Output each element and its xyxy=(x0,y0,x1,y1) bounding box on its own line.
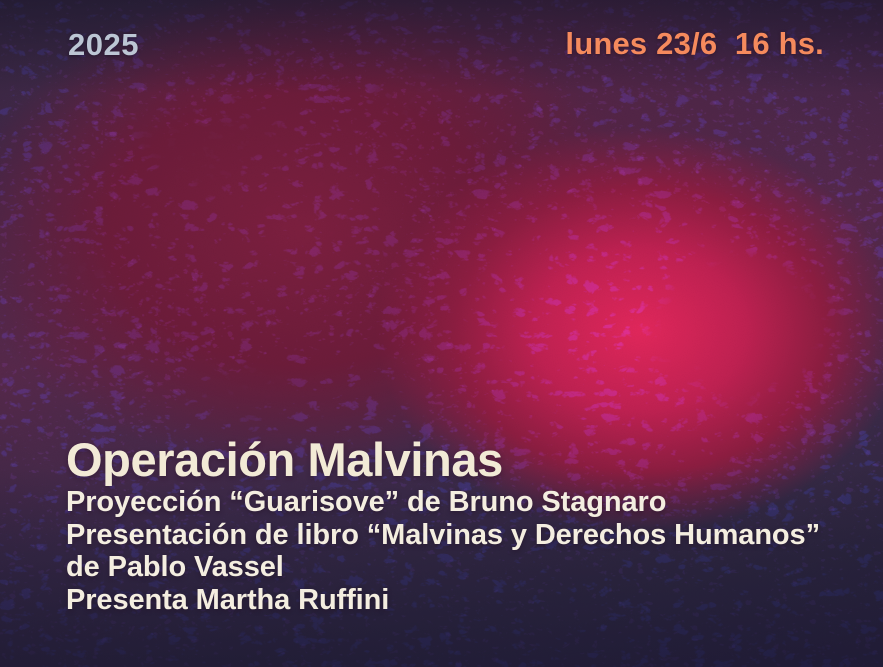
event-line-author: de Pablo Vassel xyxy=(66,551,866,583)
year-label: 2025 xyxy=(68,27,139,63)
poster-canvas: 2025 lunes 23/6 16 hs. Operación Malvina… xyxy=(0,0,883,667)
event-info-block: Operación Malvinas Proyección “Guarisove… xyxy=(66,436,866,616)
event-line-presenter: Presenta Martha Ruffini xyxy=(66,584,866,616)
event-line-screening: Proyección “Guarisove” de Bruno Stagnaro xyxy=(66,486,866,518)
event-datetime-label: lunes 23/6 16 hs. xyxy=(565,26,824,62)
page-title: Operación Malvinas xyxy=(66,436,866,484)
event-line-book-presentation: Presentación de libro “Malvinas y Derech… xyxy=(66,519,866,551)
